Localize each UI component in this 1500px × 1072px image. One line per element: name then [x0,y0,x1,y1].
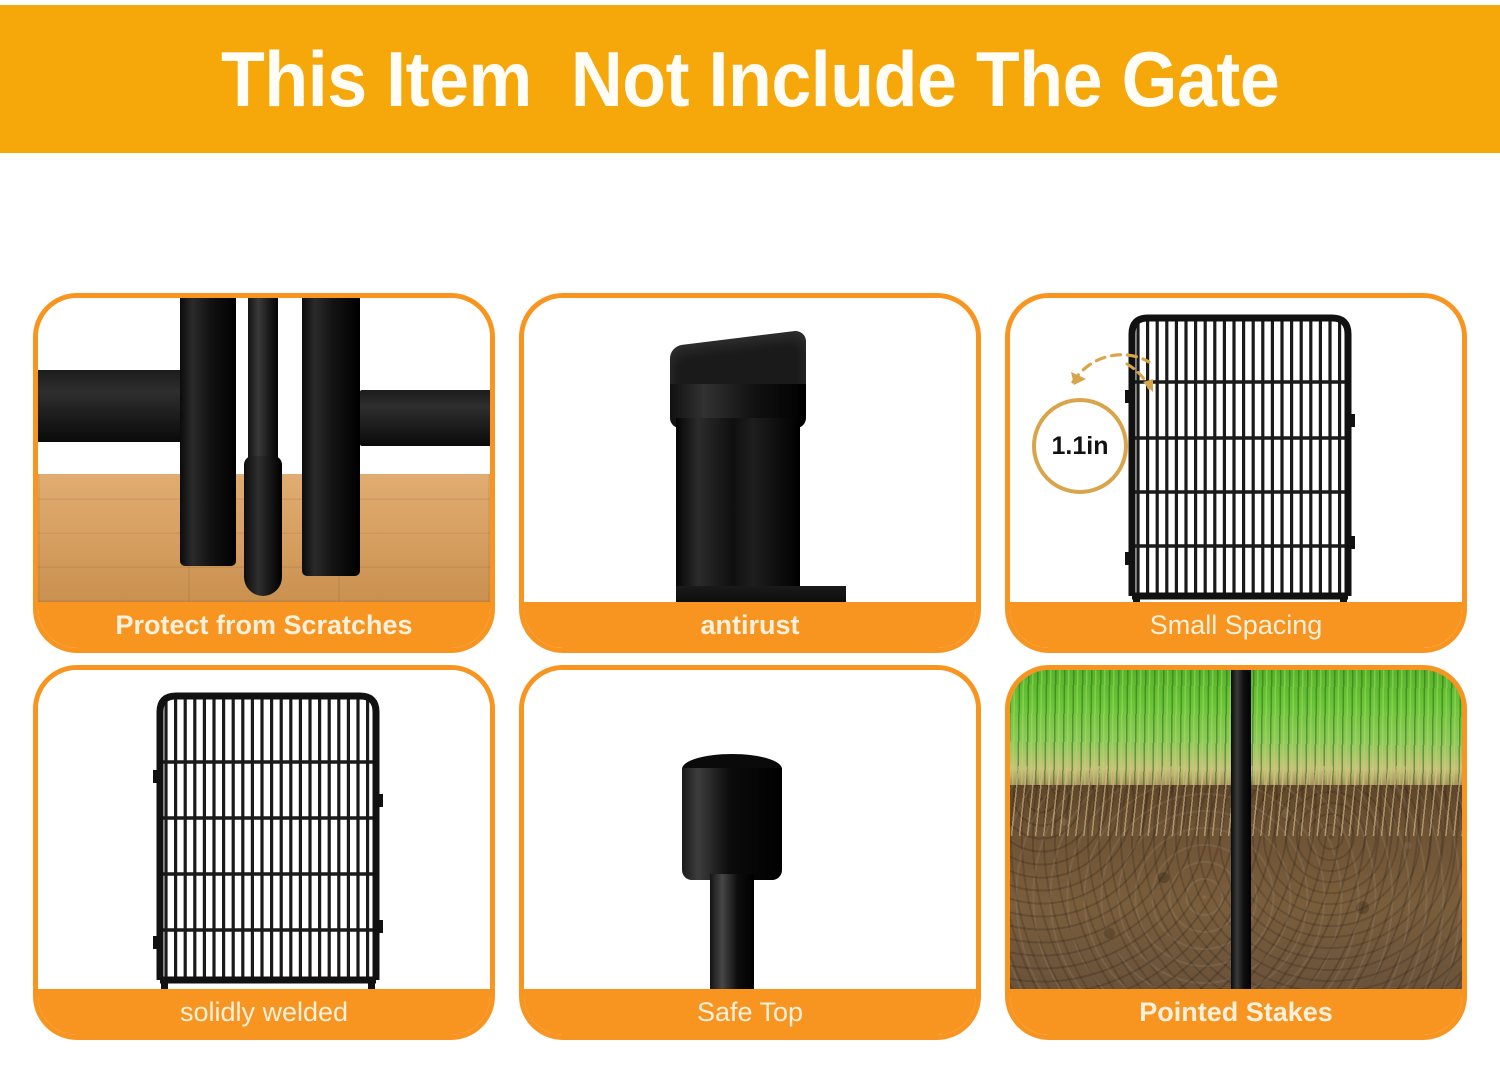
fence-rail-left [38,370,192,442]
media-stake-in-soil-cross-section [1010,670,1462,989]
driven-stake [1231,670,1251,989]
panel-caption: solidly welded [38,989,490,1035]
soil-cross-section [1010,670,1462,989]
media-fence-posts-on-wood-floor [38,298,490,602]
panel-caption: antirust [524,602,976,648]
post-base-plate [676,586,846,602]
page-title: This Item Not Include The Gate [221,34,1279,125]
fence-post-left [180,298,236,566]
feature-panel-small-spacing: 1.1in Small Spacing [1005,293,1467,653]
feature-panel-solidly-welded: solidly welded [33,665,495,1040]
safe-top-cap-body [682,768,782,880]
fence-post-right [302,298,360,576]
media-fence-panel-with-callout: 1.1in [1010,298,1462,602]
media-fence-panel [38,670,490,989]
panel-caption: Small Spacing [1010,602,1462,648]
safe-top-rod [710,874,754,989]
product-infographic: This Item Not Include The Gate Protect f… [0,0,1500,1072]
feature-panel-safe-top: Safe Top [519,665,981,1040]
media-rounded-cap-on-rod [524,670,976,989]
fence-rail-right [360,390,490,446]
spacing-callout-value: 1.1in [1052,432,1109,461]
header-banner: This Item Not Include The Gate [0,5,1500,153]
feature-panel-antirust: antirust [519,293,981,653]
panel-caption: Protect from Scratches [38,602,490,648]
pointed-stake-shaft [248,298,278,468]
measure-arrow [1065,346,1175,406]
feature-panel-pointed-stakes: Pointed Stakes [1005,665,1467,1040]
spacing-callout-circle: 1.1in [1032,398,1128,494]
panel-caption: Safe Top [524,989,976,1035]
feature-panel-protect-from-scratches: Protect from Scratches [33,293,495,653]
fence-panel-drawing [148,688,388,989]
feature-panel-grid: Protect from Scratches antirust [33,293,1467,1061]
stake-rubber-cap [244,456,282,596]
panel-caption: Pointed Stakes [1010,989,1462,1035]
media-square-post-with-cap [524,298,976,602]
square-post-body [676,418,800,602]
